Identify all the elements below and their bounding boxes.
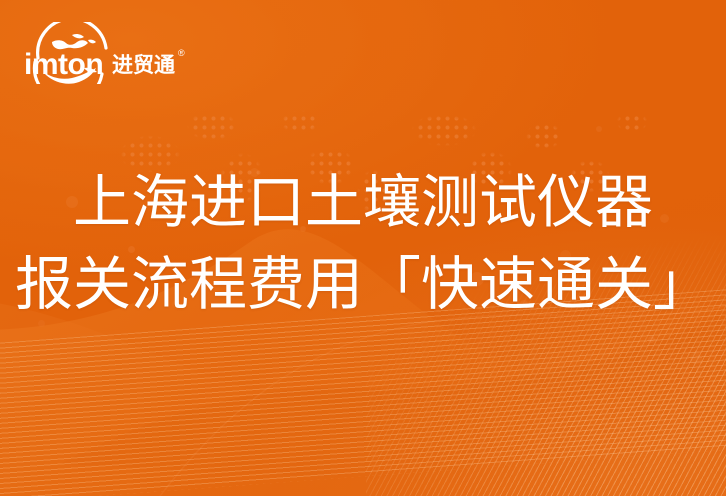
imton-logo-mark-icon: imton 进贸通 ® — [22, 22, 222, 84]
logo-chinese-text: 进贸通 — [112, 53, 175, 77]
headline-line-2: 报关流程费用「快速通关」 — [0, 244, 726, 326]
logo-wordmark-text: imton — [24, 48, 103, 81]
headline: 上海进口土壤测试仪器 报关流程费用「快速通关」 — [0, 162, 726, 326]
headline-line-1: 上海进口土壤测试仪器 — [0, 162, 726, 244]
logo-trademark-symbol: ® — [178, 48, 185, 58]
promo-banner: imton 进贸通 ® 上海进口土壤测试仪器 报关流程费用「快速通关」 — [0, 0, 726, 496]
imton-logo[interactable]: imton 进贸通 ® — [22, 22, 222, 84]
